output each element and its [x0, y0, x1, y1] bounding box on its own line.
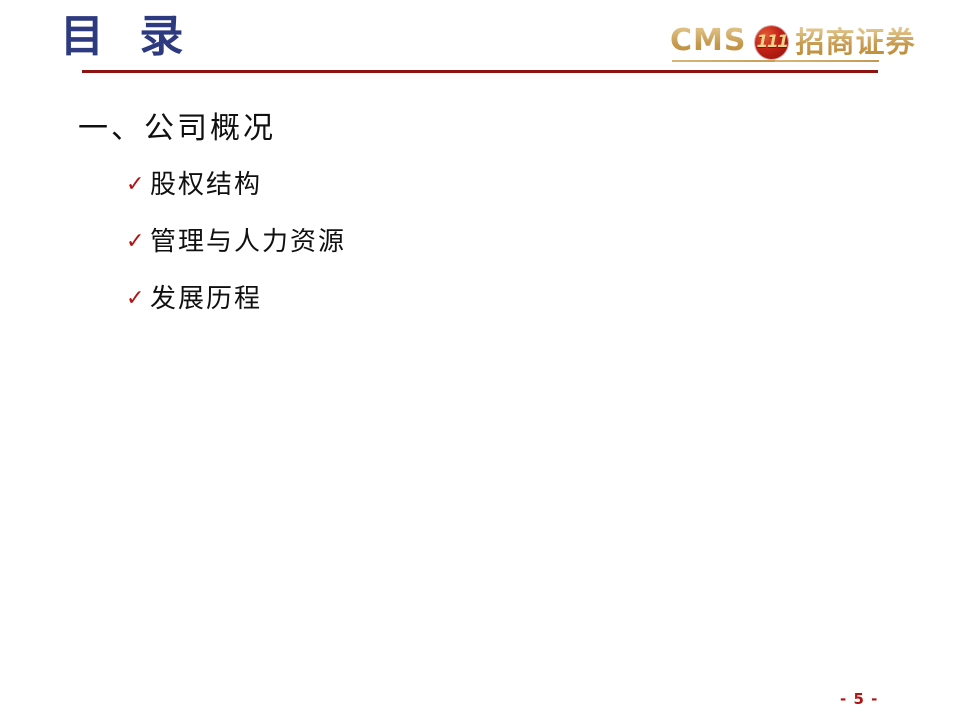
page-number: - 5 - [840, 690, 900, 708]
list-item-label: 发展历程 [150, 282, 262, 316]
logo-underline-right [775, 60, 879, 62]
header-divider-rule [82, 70, 878, 73]
page-title: 目 录 [60, 8, 193, 66]
outline-section-heading: 一、公司概况 [78, 109, 276, 149]
check-icon: ✓ [126, 286, 150, 312]
slide-canvas: 目 录 CMS 111 招商证券 一、公司概况 ✓ 股权结构 ✓ 管理与人力资源 [0, 0, 959, 719]
check-icon: ✓ [126, 172, 150, 198]
check-icon: ✓ [126, 229, 150, 255]
slide-header: 目 录 CMS 111 招商证券 [0, 0, 959, 84]
logo-latin-text: CMS [670, 24, 746, 60]
list-item[interactable]: ✓ 股权结构 [126, 168, 346, 202]
logo-chinese-text: 招商证券 [795, 25, 915, 59]
logo-emblem-icon: 111 [755, 26, 788, 59]
list-item-label: 股权结构 [150, 168, 262, 202]
logo-emblem-mark: 111 [756, 34, 787, 51]
list-item-label: 管理与人力资源 [150, 225, 346, 259]
outline-bullet-list: ✓ 股权结构 ✓ 管理与人力资源 ✓ 发展历程 [126, 168, 346, 339]
list-item[interactable]: ✓ 管理与人力资源 [126, 225, 346, 259]
list-item[interactable]: ✓ 发展历程 [126, 282, 346, 316]
company-logo: CMS 111 招商证券 [670, 18, 916, 66]
